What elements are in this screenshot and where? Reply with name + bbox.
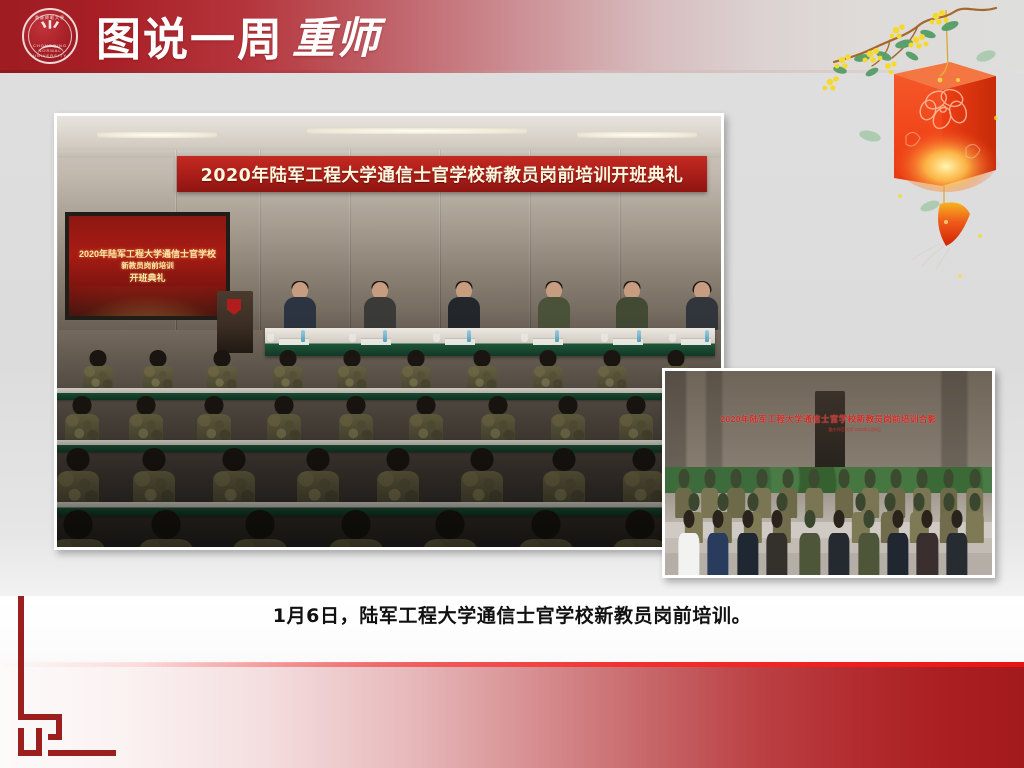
head-table-person — [447, 282, 481, 330]
head-table-person — [615, 282, 649, 330]
audience-row — [57, 348, 721, 388]
ceiling-light — [307, 128, 527, 134]
slide-root: 重慶師範大學 ⺌ CHONGQING NORMAL UNIVERSITY 图说一… — [0, 0, 1024, 768]
main-photo[interactable]: 2020年陆军工程大学通信士官学校新教员岗前培训开班典礼 2020年陆军工程大学… — [54, 113, 724, 550]
header-underline — [0, 70, 1024, 73]
corner-ornament-icon — [18, 596, 126, 766]
podium — [217, 291, 253, 353]
projection-screen-content: 2020年陆军工程大学通信士官学校 新教员岗前培训 开班典礼 — [69, 216, 226, 316]
ceiling-light — [97, 132, 217, 138]
page-title: 图说一周 重师 — [96, 4, 380, 66]
inset-banner-subtext: 重庆师范大学 2020年1月6日 — [828, 427, 881, 433]
seal-flame-glyph: ⺌ — [24, 21, 76, 43]
audience — [57, 348, 721, 547]
head-table-person — [283, 282, 317, 330]
stage-banner-text: 2020年陆军工程大学通信士官学校新教员岗前培训开班典礼 — [201, 162, 684, 187]
audience-row — [57, 394, 721, 440]
inset-group-photo[interactable]: 2020年陆军工程大学通信士官学校新教员岗前培训合影 重庆师范大学 2020年1… — [662, 368, 995, 578]
screen-text-line-1: 2020年陆军工程大学通信士官学校 — [79, 248, 216, 260]
screen-text-line-3: 开班典礼 — [129, 272, 165, 284]
projection-screen: 2020年陆军工程大学通信士官学校 新教员岗前培训 开班典礼 — [65, 212, 230, 320]
inset-banner-text: 2020年陆军工程大学通信士官学校新教员岗前培训合影 — [720, 413, 936, 425]
head-table-person — [685, 282, 719, 330]
inset-banner: 2020年陆军工程大学通信士官学校新教员岗前培训合影 重庆师范大学 2020年1… — [704, 406, 953, 441]
header-bar: 重慶師範大學 ⺌ CHONGQING NORMAL UNIVERSITY 图说一… — [0, 0, 1024, 70]
screen-text-line-2: 新教员岗前培训 — [121, 260, 174, 272]
screen-glow — [69, 286, 226, 316]
head-table-person — [537, 282, 571, 330]
audience-row — [57, 508, 721, 550]
podium-crest-icon — [227, 299, 241, 315]
seal-ring-text-bottom: CHONGQING NORMAL UNIVERSITY — [24, 43, 76, 58]
head-table-person — [363, 282, 397, 330]
group-row-front — [665, 510, 992, 571]
page-title-main: 图说一周 — [96, 3, 284, 68]
footer-accent-line — [0, 662, 1024, 667]
head-table-people — [265, 284, 715, 330]
photo-caption: 1月6日，陆军工程大学通信士官学校新教员岗前培训。 — [0, 601, 1024, 628]
page-title-script: 重师 — [292, 4, 380, 66]
ceiling-light — [577, 132, 697, 138]
audience-row — [57, 446, 721, 502]
stage-banner: 2020年陆军工程大学通信士官学校新教员岗前培训开班典礼 — [177, 156, 707, 192]
footer-band — [0, 663, 1024, 768]
university-seal-icon: 重慶師範大學 ⺌ CHONGQING NORMAL UNIVERSITY — [22, 8, 78, 64]
